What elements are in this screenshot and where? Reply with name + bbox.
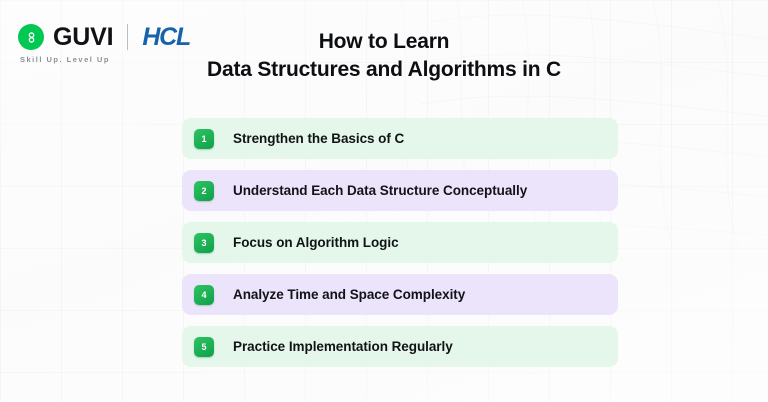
infographic-canvas: GUVI HCL Skill Up. Level Up How to Learn… — [0, 0, 768, 402]
list-item: 1Strengthen the Basics of C — [182, 118, 618, 159]
step-number-badge: 3 — [194, 233, 214, 253]
page-title: How to Learn Data Structures and Algorit… — [0, 28, 768, 83]
list-item: 4Analyze Time and Space Complexity — [182, 274, 618, 315]
step-number-badge: 2 — [194, 181, 214, 201]
step-label: Strengthen the Basics of C — [233, 131, 404, 146]
step-label: Focus on Algorithm Logic — [233, 235, 399, 250]
step-number-badge: 1 — [194, 129, 214, 149]
list-item: 5Practice Implementation Regularly — [182, 326, 618, 367]
step-number-badge: 5 — [194, 337, 214, 357]
step-label: Practice Implementation Regularly — [233, 339, 453, 354]
steps-list: 1Strengthen the Basics of C2Understand E… — [182, 118, 618, 367]
step-number-badge: 4 — [194, 285, 214, 305]
step-label: Analyze Time and Space Complexity — [233, 287, 465, 302]
page-title-line-2: Data Structures and Algorithms in C — [0, 56, 768, 84]
list-item: 2Understand Each Data Structure Conceptu… — [182, 170, 618, 211]
page-title-line-1: How to Learn — [0, 28, 768, 56]
list-item: 3Focus on Algorithm Logic — [182, 222, 618, 263]
step-label: Understand Each Data Structure Conceptua… — [233, 183, 527, 198]
